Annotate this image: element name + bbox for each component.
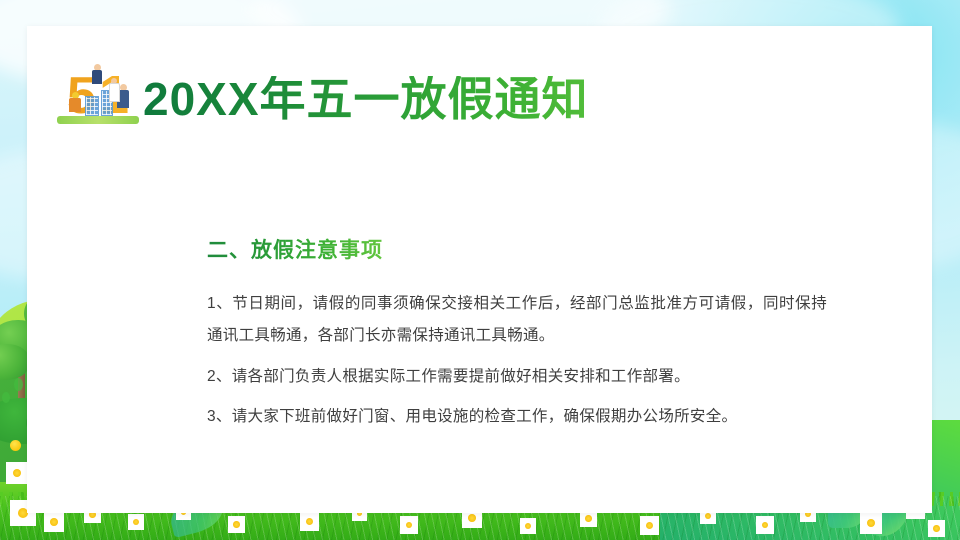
- yellow-flower-decoration: [10, 440, 21, 451]
- notice-list: 1、节日期间，请假的同事须确保交接相关工作后，经部门总监批准方可请假，同时保持通…: [207, 288, 827, 442]
- logo-building-block: [85, 96, 99, 116]
- logo-worker-figure: [91, 64, 103, 84]
- logo-worker-figure: [69, 92, 82, 112]
- title-row: 5 1: [55, 62, 589, 124]
- logo-ground-strip: [57, 116, 139, 124]
- notice-item: 3、请大家下班前做好门窗、用电设施的检查工作，确保假期办公场所安全。: [207, 401, 827, 433]
- page-title: 20XX年五一放假通知: [143, 76, 589, 124]
- notice-item: 1、节日期间，请假的同事须确保交接相关工作后，经部门总监批准方可请假，同时保持通…: [207, 288, 827, 352]
- foliage-dot: [14, 378, 23, 391]
- foliage-dot: [2, 392, 10, 403]
- content-card: 5 1: [27, 26, 932, 513]
- labor-day-51-icon: 5 1: [55, 62, 141, 124]
- slide-canvas: 5 1: [0, 0, 960, 540]
- logo-worker-figure: [109, 78, 119, 100]
- notice-item: 2、请各部门负责人根据实际工作需要提前做好相关安排和工作部署。: [207, 361, 827, 393]
- section-heading: 二、放假注意事项: [207, 234, 383, 264]
